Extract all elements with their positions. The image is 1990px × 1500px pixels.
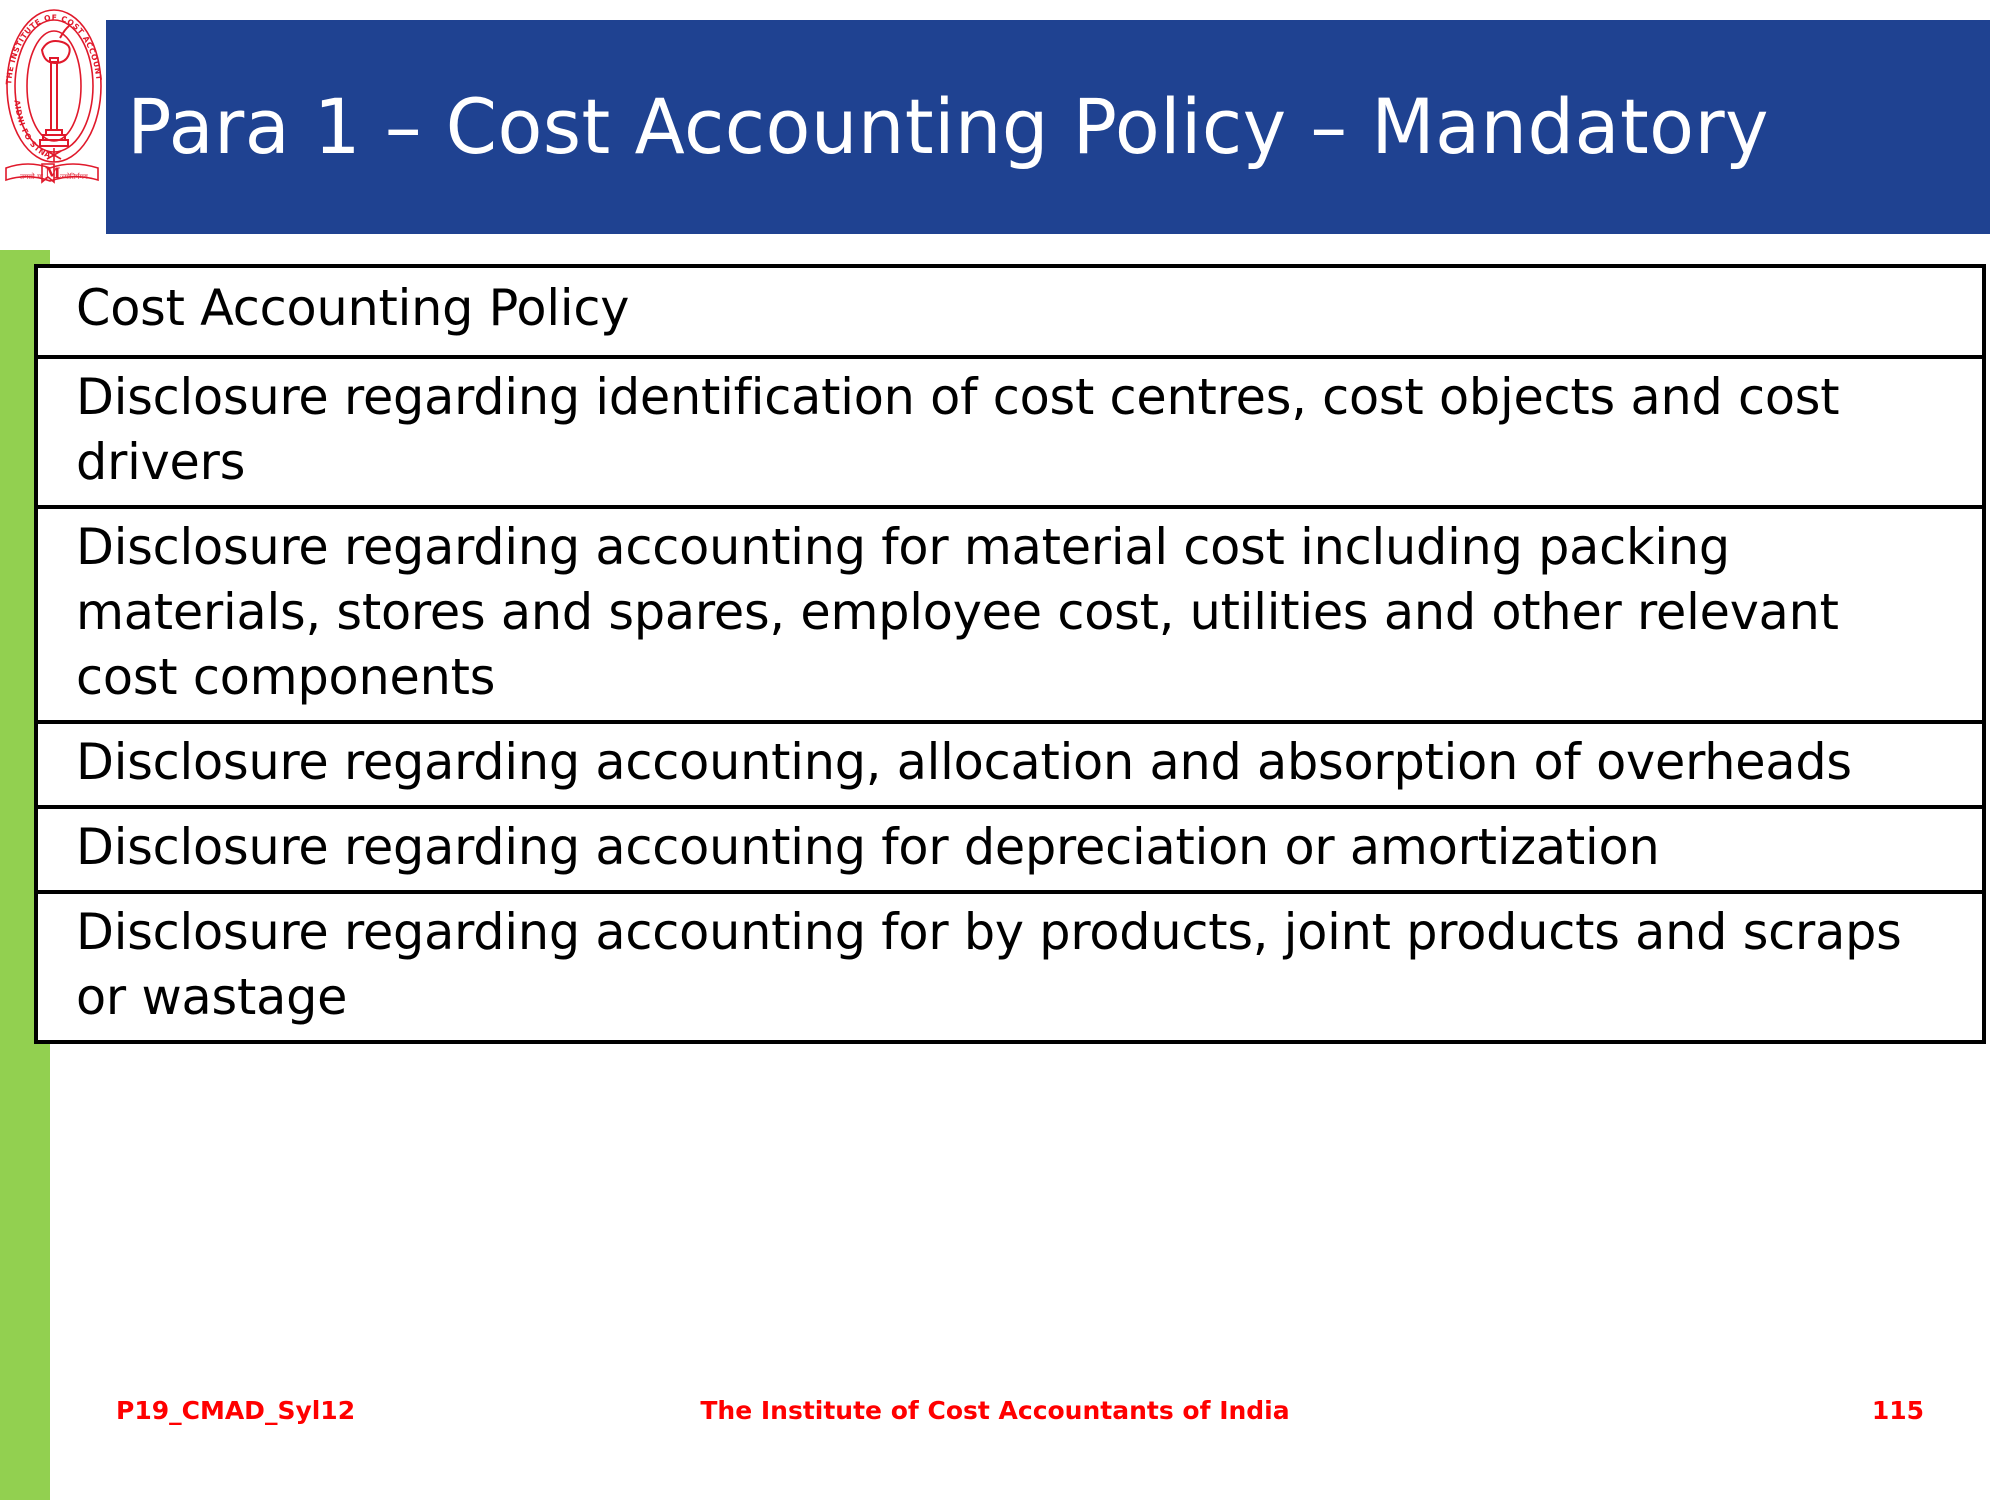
- table-row: Cost Accounting Policy: [36, 266, 1984, 357]
- cost-accounting-policy-table: Cost Accounting Policy Disclosure regard…: [34, 264, 1986, 1044]
- table-row: Disclosure regarding accounting, allocat…: [36, 722, 1984, 807]
- footer-institute-name: The Institute of Cost Accountants of Ind…: [0, 1396, 1990, 1425]
- table-cell: Cost Accounting Policy: [36, 266, 1984, 357]
- slide-footer: P19_CMAD_Syl12 The Institute of Cost Acc…: [0, 1396, 1990, 1440]
- slide-header-bar: Para 1 – Cost Accounting Policy – Mandat…: [106, 20, 1990, 234]
- slide-canvas: THE INSTITUTE OF COST ACCOUNT AIDNI FO S…: [0, 0, 1990, 1500]
- table-cell: Disclosure regarding accounting, allocat…: [36, 722, 1984, 807]
- svg-text:THE INSTITUTE OF COST ACCOUNT: THE INSTITUTE OF COST ACCOUNT: [4, 13, 103, 85]
- svg-text:ज्योतिर्गमय: ज्योतिर्गमय: [60, 172, 89, 181]
- table-cell: Disclosure regarding accounting for depr…: [36, 807, 1984, 892]
- table-cell-text: Disclosure regarding accounting, allocat…: [76, 730, 1953, 795]
- page-title: Para 1 – Cost Accounting Policy – Mandat…: [106, 89, 1769, 165]
- table-cell-text: Disclosure regarding accounting for mate…: [76, 515, 1953, 710]
- svg-text:तमसो मा: तमसो मा: [20, 172, 43, 181]
- institute-logo: THE INSTITUTE OF COST ACCOUNT AIDNI FO S…: [2, 2, 106, 188]
- table-cell: Disclosure regarding accounting for mate…: [36, 507, 1984, 722]
- table-row: Disclosure regarding accounting for depr…: [36, 807, 1984, 892]
- table-row: Disclosure regarding accounting for mate…: [36, 507, 1984, 722]
- table-cell-text: Disclosure regarding accounting for depr…: [76, 815, 1953, 880]
- table-cell-text: Cost Accounting Policy: [76, 276, 1953, 341]
- table-cell-text: Disclosure regarding accounting for by p…: [76, 900, 1953, 1030]
- table-cell: Disclosure regarding identification of c…: [36, 357, 1984, 507]
- table-cell-text: Disclosure regarding identification of c…: [76, 365, 1953, 495]
- table-row: Disclosure regarding identification of c…: [36, 357, 1984, 507]
- footer-page-number: 115: [1872, 1396, 1924, 1425]
- table-row: Disclosure regarding accounting for by p…: [36, 892, 1984, 1042]
- content-table-container: Cost Accounting Policy Disclosure regard…: [34, 264, 1986, 1044]
- table-cell: Disclosure regarding accounting for by p…: [36, 892, 1984, 1042]
- svg-text:M: M: [45, 166, 61, 182]
